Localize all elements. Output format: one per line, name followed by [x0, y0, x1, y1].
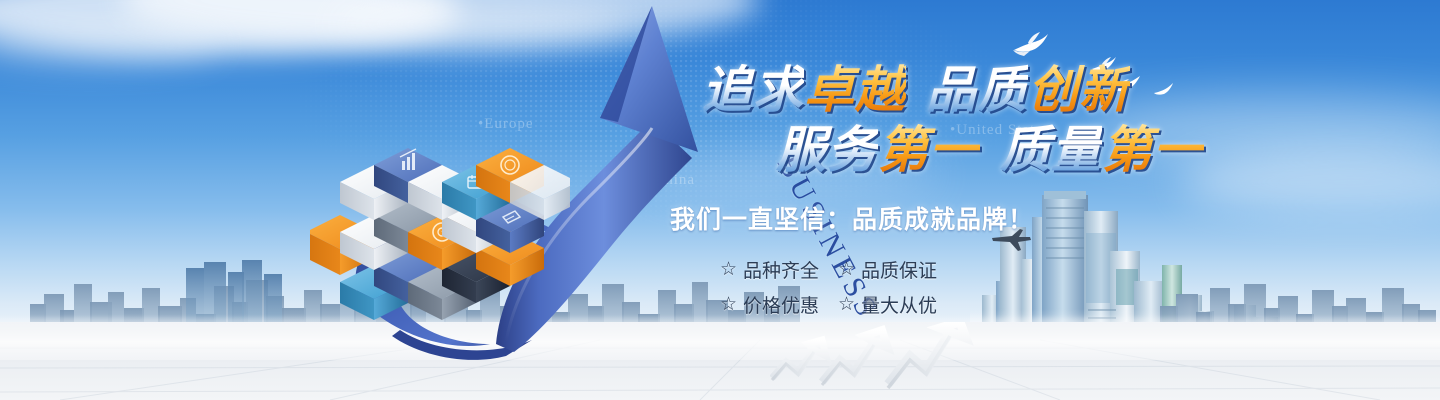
dove-icon	[1010, 30, 1052, 60]
headline-seg: 服务	[776, 122, 878, 178]
headline-seg: 第一	[878, 122, 980, 178]
headline-seg: 追求	[702, 62, 804, 118]
star-icon: ☆	[720, 260, 737, 279]
feature-list: ☆ 品种齐全 ☆ 品质保证 ☆ 价格优惠 ☆ 量大从优	[720, 256, 990, 318]
rubiks-cube-graphic	[310, 105, 570, 320]
feature-row: ☆ 品种齐全 ☆ 品质保证	[720, 256, 990, 283]
banner-copy: 追求卓越品质创新 服务第一质量第一 我们一直坚信：品质成就品牌！ ☆ 品种齐全 …	[650, 62, 1210, 326]
feature-item: ☆ 价格优惠	[720, 291, 838, 318]
cloud-shape	[0, 26, 220, 66]
star-icon: ☆	[838, 295, 855, 314]
feature-item: ☆ 品质保证	[838, 256, 956, 283]
feature-row: ☆ 价格优惠 ☆ 量大从优	[720, 291, 990, 318]
feature-label: 量大从优	[861, 291, 937, 318]
headline-seg: 卓越	[804, 62, 906, 118]
feature-item: ☆ 量大从优	[838, 291, 956, 318]
headline-seg: 第一	[1102, 122, 1204, 178]
cube-cells	[310, 148, 570, 320]
banner-subtitle: 我们一直坚信：品质成就品牌！	[670, 200, 1210, 236]
feature-label: 价格优惠	[743, 291, 819, 318]
cloud-shape	[1180, 150, 1440, 214]
feature-label: 品种齐全	[743, 256, 819, 283]
feature-item: ☆ 品种齐全	[720, 256, 838, 283]
headline-seg: 品质	[926, 62, 1028, 118]
feature-label: 品质保证	[861, 256, 937, 283]
headline-line-1: 追求卓越品质创新	[702, 62, 1210, 118]
headline-seg: 质量	[1000, 122, 1102, 178]
star-icon: ☆	[838, 260, 855, 279]
star-icon: ☆	[720, 295, 737, 314]
headline-line-2: 服务第一质量第一	[776, 122, 1210, 178]
headline-seg: 创新	[1028, 62, 1130, 118]
promo-banner: •Europe •United States •China	[0, 0, 1440, 400]
